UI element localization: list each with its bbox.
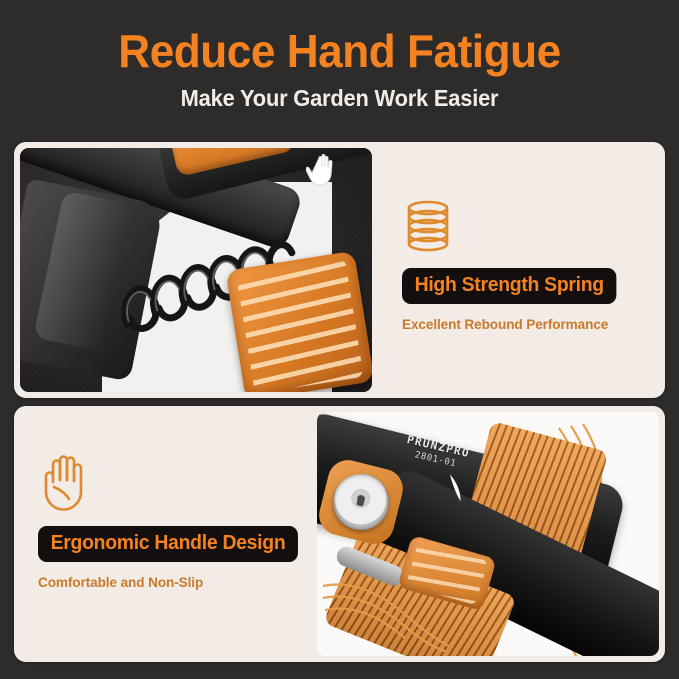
feature-card-handle: Ergonomic Handle Design Comfortable and … xyxy=(14,406,665,662)
photo-spring-closeup xyxy=(20,148,372,392)
feature-text-spring: High Strength Spring Excellent Rebound P… xyxy=(402,198,652,333)
motion-lines-left xyxy=(321,542,451,652)
page-title: Reduce Hand Fatigue xyxy=(14,24,666,78)
pruner-orange-grip-pad xyxy=(225,251,372,392)
feature-text-handle: Ergonomic Handle Design Comfortable and … xyxy=(38,454,308,591)
product-feature-graphic: Reduce Hand Fatigue Make Your Garden Wor… xyxy=(0,0,679,679)
feature-card-spring: High Strength Spring Excellent Rebound P… xyxy=(14,142,665,398)
spring-coil-icon xyxy=(402,198,454,254)
page-subtitle: Make Your Garden Work Easier xyxy=(17,84,662,112)
feature-title-handle: Ergonomic Handle Design xyxy=(38,526,298,562)
white-glove-cursor-icon xyxy=(306,154,340,188)
feature-title-spring: High Strength Spring xyxy=(402,268,616,304)
header: Reduce Hand Fatigue Make Your Garden Wor… xyxy=(0,24,679,112)
feature-subtitle-handle: Comfortable and Non-Slip xyxy=(38,573,300,591)
open-hand-icon xyxy=(38,454,92,512)
feature-subtitle-spring: Excellent Rebound Performance xyxy=(402,315,645,333)
photo-handle-closeup: PRUNZPRO 2801-01 xyxy=(317,412,659,656)
